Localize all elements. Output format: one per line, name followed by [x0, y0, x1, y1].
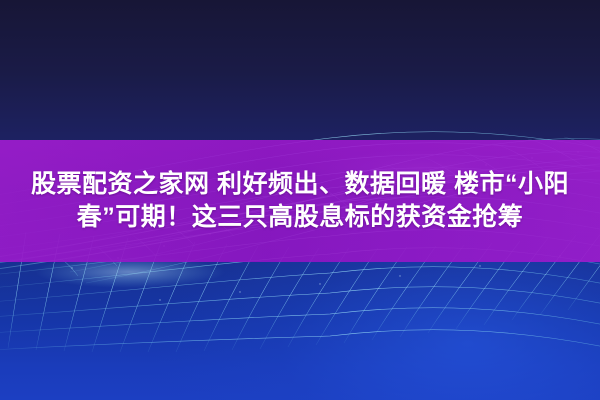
headline-line-1: 股票配资之家网 利好频出、数据回暖 楼市“小阳: [31, 171, 569, 198]
headline-block: 股票配资之家网 利好频出、数据回暖 楼市“小阳 春”可期！这三只高股息标的获资金…: [0, 140, 600, 262]
headline-line-2: 春”可期！这三只高股息标的获资金抢筹: [77, 204, 524, 231]
banner-image: 股票配资之家网 利好频出、数据回暖 楼市“小阳 春”可期！这三只高股息标的获资金…: [0, 0, 600, 400]
